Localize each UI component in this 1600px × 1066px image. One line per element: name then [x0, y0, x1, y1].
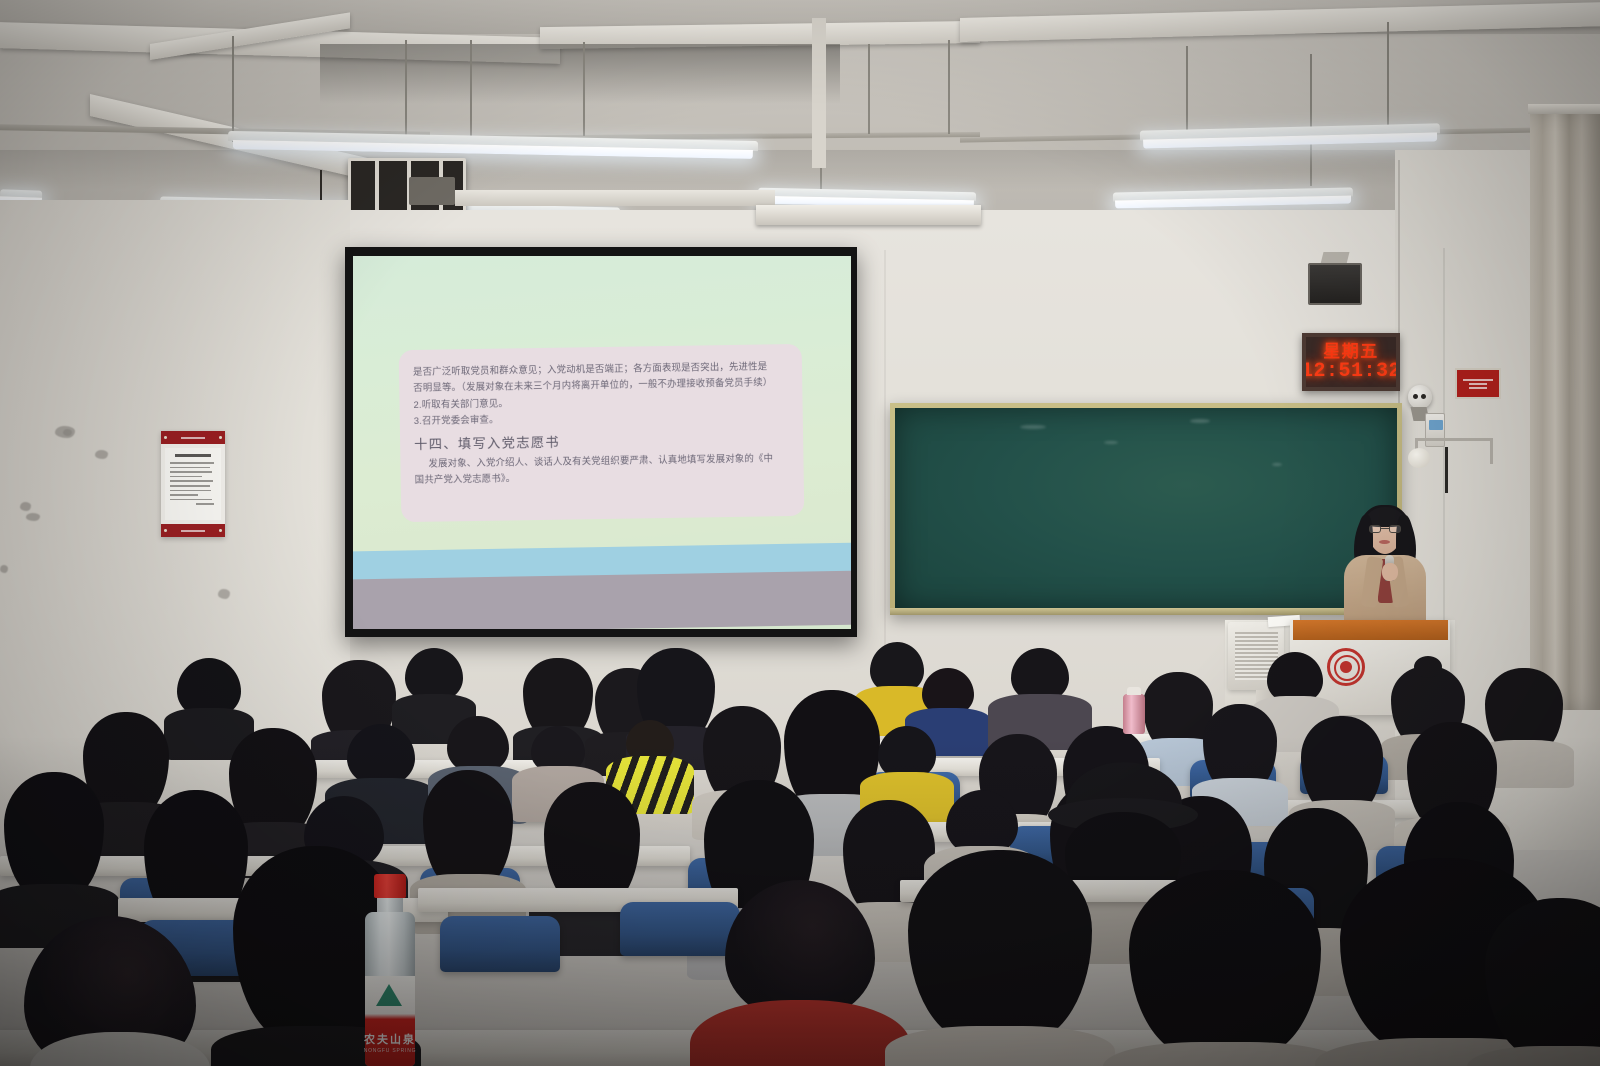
- wall-scuff: [218, 589, 230, 599]
- poster-footer-band: [161, 524, 225, 537]
- wall-scuff: [26, 513, 40, 521]
- audience-member: [0, 772, 108, 922]
- wall-scuff: [20, 502, 31, 511]
- light-hanger-rod: [232, 36, 234, 142]
- head: [347, 724, 415, 786]
- audience-member-front: [700, 880, 900, 1066]
- hair: [423, 770, 513, 888]
- surveillance-camera-icon: [1408, 385, 1432, 409]
- audience-member: [1200, 704, 1280, 810]
- ceiling-light-tube: [1140, 123, 1440, 148]
- hair: [1129, 870, 1321, 1058]
- lecturer-person: [1338, 503, 1430, 625]
- wall-seam: [884, 250, 886, 650]
- chalk-tray: [890, 608, 1402, 615]
- screen-housing-right: [756, 205, 981, 225]
- light-hanger-rod: [948, 40, 950, 134]
- torso: [1467, 1046, 1600, 1066]
- wall-scuff: [95, 450, 108, 459]
- glasses-icon: [1369, 525, 1401, 533]
- clock-time: 12:51:32: [1302, 361, 1400, 383]
- mountain-logo-icon: [376, 984, 402, 1006]
- hanging-cable: [1445, 447, 1448, 493]
- water-bottle: 农夫山泉 NONGFU SPRING: [362, 874, 418, 1066]
- audience-member-front: [1120, 870, 1330, 1066]
- led-clock-display: 星期五 12:51:32: [1302, 333, 1400, 391]
- light-hanger-rod: [868, 44, 870, 134]
- projector-body: [409, 177, 455, 205]
- light-hanger-rod: [1186, 46, 1188, 136]
- blackboard: [890, 403, 1402, 615]
- poster-body: [165, 448, 221, 520]
- wall-pipe-drop: [1490, 438, 1493, 464]
- blackboard-surface: [895, 408, 1397, 610]
- audience-member-front: [1480, 898, 1600, 1066]
- slide-grey-band: [353, 570, 851, 629]
- torso: [885, 1026, 1115, 1066]
- wall-notice-poster: [161, 431, 225, 537]
- clock-day-label: 星期五: [1323, 342, 1379, 361]
- wall-scuff: [0, 565, 8, 573]
- light-hanger-rod: [405, 40, 407, 138]
- bottle-brand-name: 农夫山泉: [362, 1031, 418, 1047]
- light-hanger-rod: [583, 42, 585, 136]
- hair-bun: [1414, 656, 1442, 678]
- screen-surface: 是否广泛听取党员和群众意见；入党动机是否端正；各方面表现是否突出，先进性是 否明…: [353, 256, 851, 629]
- lecturer-mouth: [1379, 540, 1390, 544]
- hair: [908, 850, 1092, 1042]
- audience-area: [0, 630, 1600, 1066]
- red-warning-sign: [1455, 368, 1501, 399]
- audience-member-front: [900, 850, 1100, 1066]
- projector-mount-post: [812, 18, 826, 168]
- hair: [1485, 898, 1600, 1058]
- ceiling-light-tube: [1113, 187, 1353, 208]
- wall-speaker: [1308, 263, 1362, 305]
- bottle-brand-sub: NONGFU SPRING: [362, 1048, 418, 1054]
- screen-housing-left: [455, 190, 775, 206]
- classroom-photo: 是否广泛听取党员和群众意见；入党动机是否端正；各方面表现是否突出，先进性是 否明…: [0, 0, 1600, 1066]
- head: [725, 880, 875, 1020]
- control-panel-device: [1425, 413, 1445, 447]
- curtain-rail: [1528, 104, 1600, 114]
- bottle-cap: [374, 874, 406, 898]
- poster-header-band: [161, 431, 225, 444]
- projection-screen: 是否广泛听取党员和群众意见；入党动机是否端正；各方面表现是否突出，先进性是 否明…: [345, 247, 857, 637]
- torso: [1103, 1042, 1347, 1066]
- wall-scuff: [63, 429, 72, 436]
- lecturer-hand: [1382, 563, 1398, 581]
- ceiling-shadow-2: [0, 150, 1600, 190]
- torso-red-hoodie: [690, 1000, 910, 1066]
- globe-lamp: [1408, 448, 1430, 468]
- chair: [440, 916, 560, 972]
- light-hanger-rod: [470, 40, 472, 138]
- light-hanger-rod: [1310, 54, 1312, 186]
- wall-pipe: [1415, 438, 1493, 441]
- audience-member-front: [0, 916, 220, 1066]
- slide-text-card: 是否广泛听取党员和群众意见；入党动机是否端正；各方面表现是否突出，先进性是 否明…: [399, 344, 805, 522]
- hair: [4, 772, 104, 898]
- window-curtain: [1530, 110, 1600, 710]
- light-hanger-rod: [1387, 22, 1389, 132]
- projector-cage: [348, 158, 466, 216]
- ceiling-shadow-1: [320, 44, 840, 104]
- pink-thermos: [1123, 694, 1145, 734]
